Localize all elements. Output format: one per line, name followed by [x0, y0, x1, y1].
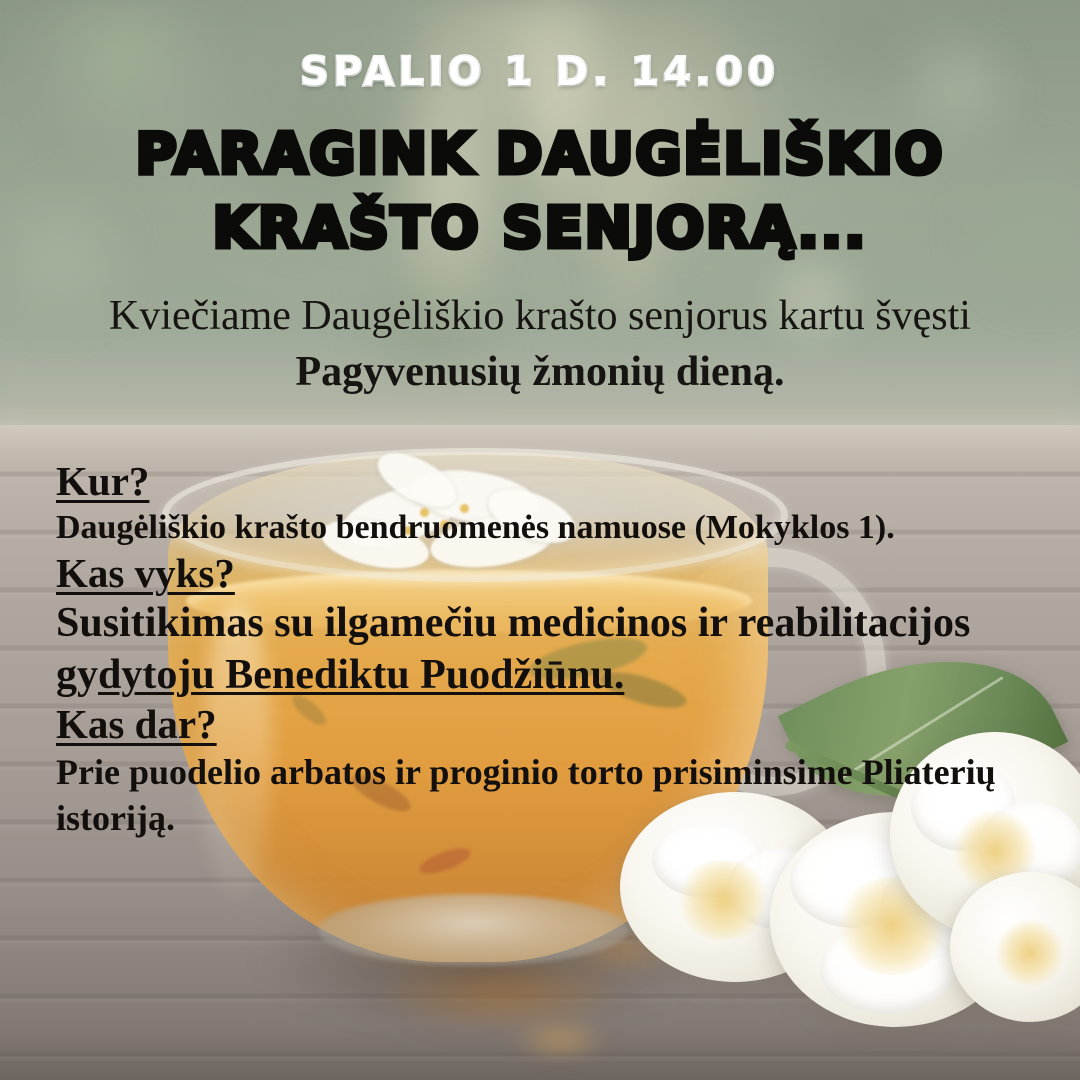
detail-answer-what: Susitikimas su ilgamečiu medicinos ir re… — [56, 597, 1056, 701]
detail-question-more: Kas dar? — [56, 701, 1056, 749]
poster-details: Kur? Daugėliškio krašto bendruomenės nam… — [56, 458, 1056, 841]
subtitle-emphasis: Pagyvenusių žmonių dieną. — [296, 349, 785, 395]
detail-question-what: Kas vyks? — [56, 550, 1056, 598]
event-date-time: SPALIO 1 D. 14.00 — [0, 50, 1080, 95]
detail-question-where: Kur? — [56, 458, 1056, 506]
poster-content: SPALIO 1 D. 14.00 PARAGINK DAUGĖLIŠKIO K… — [0, 0, 1080, 1080]
event-poster: SPALIO 1 D. 14.00 PARAGINK DAUGĖLIŠKIO K… — [0, 0, 1080, 1080]
poster-subtitle: Kviečiame Daugėliškio krašto senjorus ka… — [70, 288, 1010, 401]
detail-answer-where: Daugėliškio krašto bendruomenės namuose … — [56, 506, 1056, 550]
subtitle-lead: Kviečiame Daugėliškio krašto senjorus ka… — [109, 293, 971, 339]
poster-headline: PARAGINK DAUGĖLIŠKIO KRAŠTO SENJORĄ... — [44, 118, 1036, 267]
detail-answer-what-doctor: dytoju Benediktu Puodžiūnu. — [98, 652, 624, 698]
detail-answer-more: Prie puodelio arbatos ir proginio torto … — [56, 749, 1056, 841]
